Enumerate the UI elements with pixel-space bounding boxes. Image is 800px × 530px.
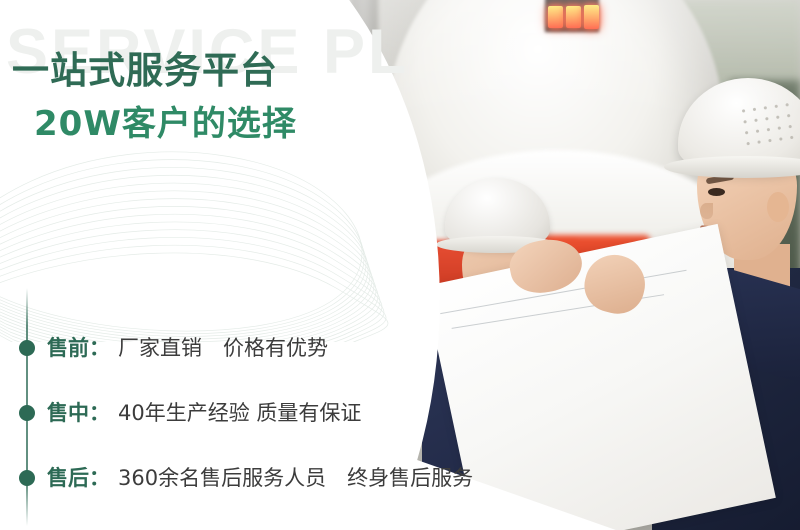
bullet-text-aftersale: 360余名售后服务人员 终身售后服务 [118,462,473,492]
bullet-dot-presale [19,340,35,356]
headline-primary: 一站式服务平台 [12,40,278,94]
bullet-dot-insale [19,405,35,421]
bullet-dot-aftersale [19,470,35,486]
bullet-label-insale: 售中： [47,397,110,427]
bullet-label-aftersale: 售后： [47,462,110,492]
headline-secondary: 20W客户的选择 [34,96,297,145]
bullet-text-presale: 厂家直销 价格有优势 [118,332,328,362]
bullet-text-insale: 40年生产经验 质量有保证 [118,397,361,427]
bullet-label-presale: 售前： [47,332,110,362]
service-platform-banner: 人和 保安 [0,0,800,530]
